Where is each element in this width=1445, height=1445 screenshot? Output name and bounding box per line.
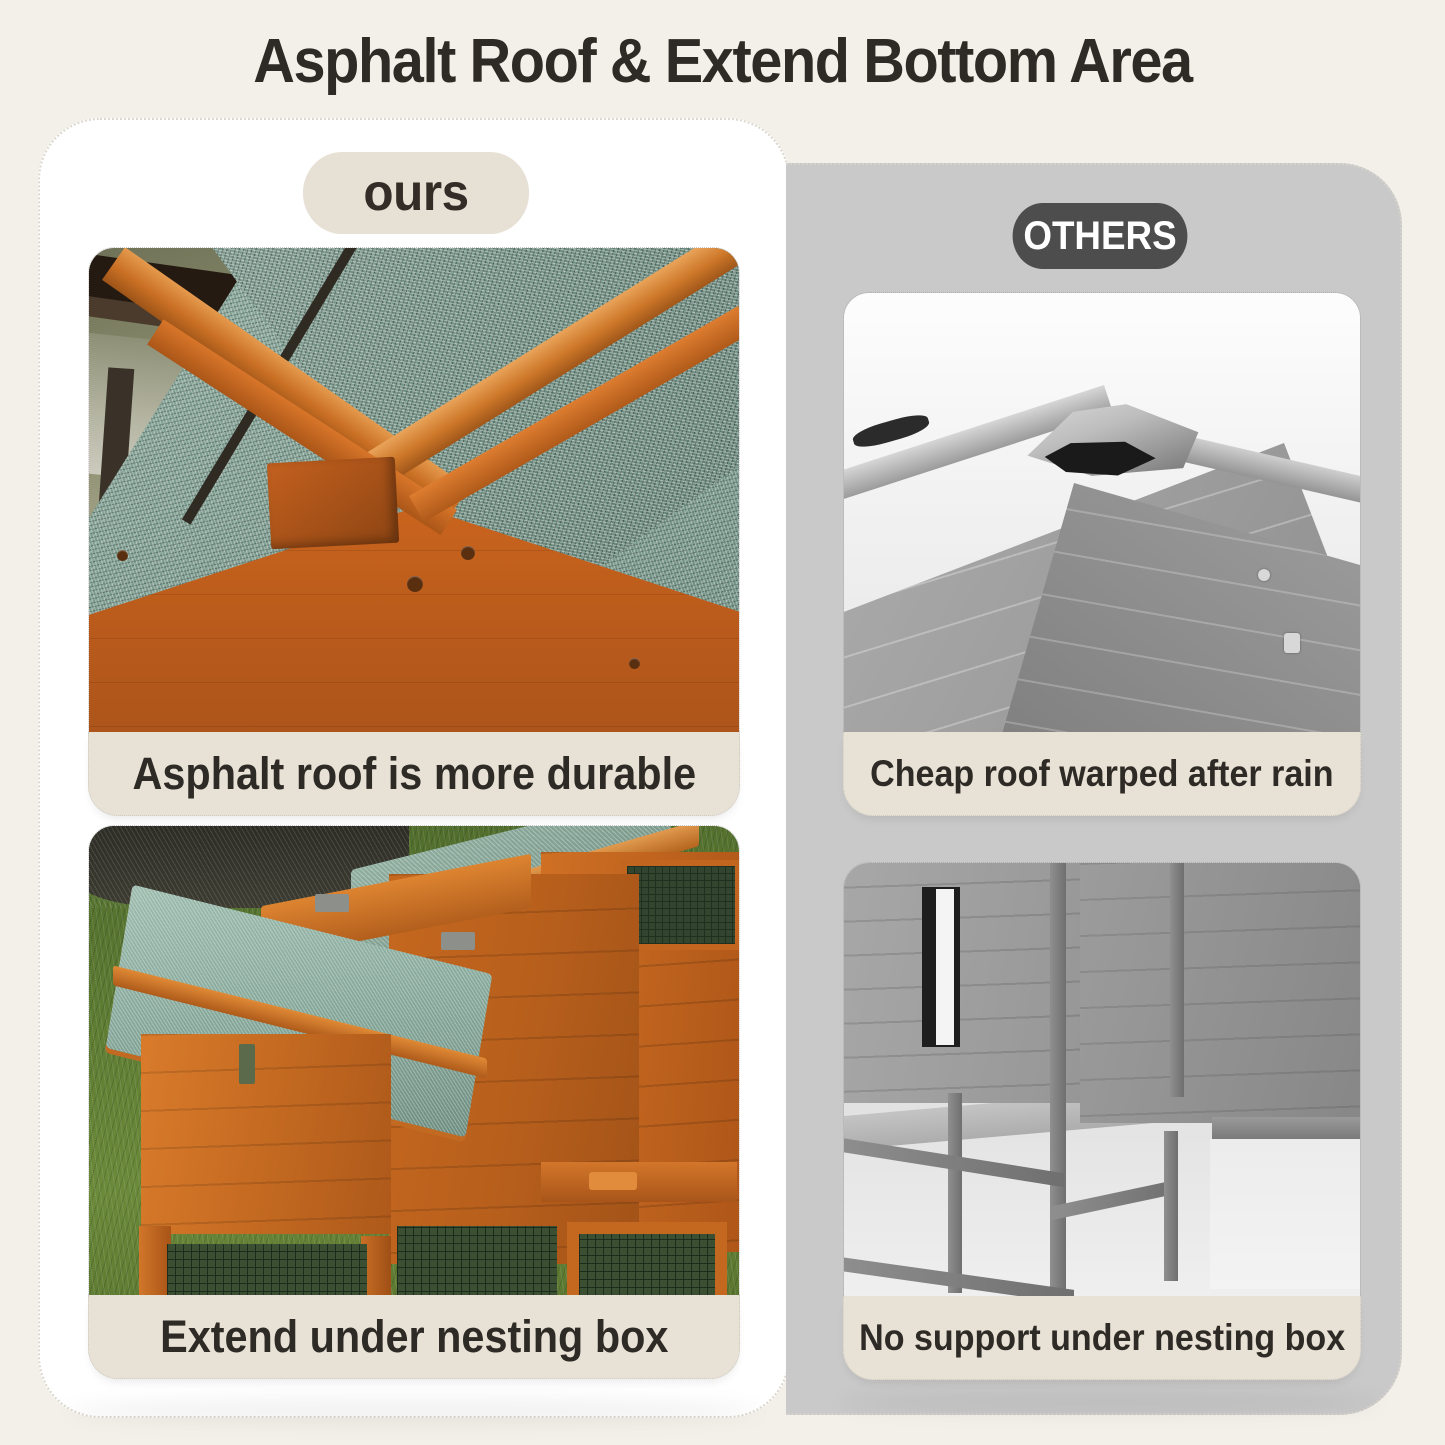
ours-badge: ours [303,152,529,234]
ours-caption-nesting-box: Extend under nesting box [88,1295,740,1379]
ours-panel-shadow [68,1398,760,1424]
others-panel-shadow [840,1392,1380,1414]
warped-cheap-roof-grayscale-photo [843,292,1361,732]
others-badge: OTHERS [1013,203,1188,269]
others-caption-warped-roof: Cheap roof warped after rain [843,732,1361,816]
chicken-coop-extended-nesting-box-photo [88,825,740,1295]
others-card-no-support: No support under nesting box [843,862,1361,1380]
others-card-warped-roof: Cheap roof warped after rain [843,292,1361,816]
unsupported-nesting-box-grayscale-photo [843,862,1361,1296]
ours-badge-label: ours [363,163,468,223]
others-caption-no-support: No support under nesting box [843,1296,1361,1380]
ours-caption-asphalt-roof: Asphalt roof is more durable [88,732,740,816]
ours-card-asphalt-roof: Asphalt roof is more durable [88,247,740,816]
others-badge-label: OTHERS [1023,214,1176,259]
ours-card-nesting-box: Extend under nesting box [88,825,740,1379]
page-title: Asphalt Roof & Extend Bottom Area [51,26,1395,97]
asphalt-shingle-roof-closeup-photo [88,247,740,732]
